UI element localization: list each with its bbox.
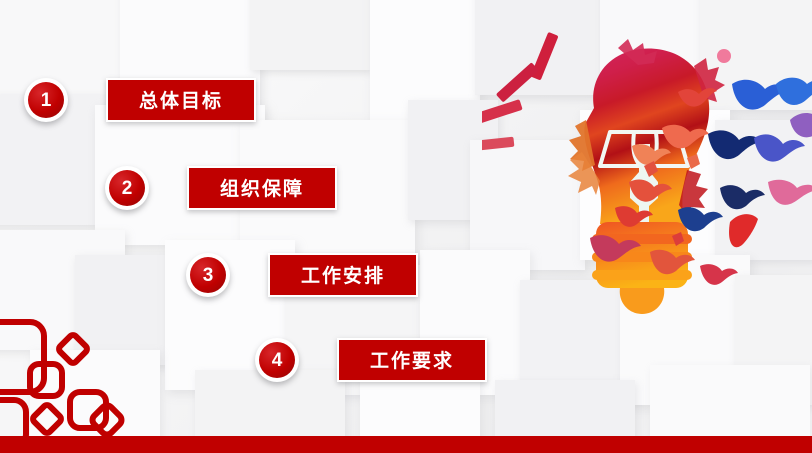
agenda-number-3: 3	[190, 257, 226, 293]
corner-decoration	[0, 316, 150, 436]
agenda-banner-3[interactable]: 工作安排	[268, 253, 418, 297]
agenda-badge-2: 2	[105, 166, 149, 210]
agenda-row-3[interactable]: 3 工作安排	[186, 253, 418, 297]
slide-canvas: 1 总体目标 2 组织保障 3 工作安排 4 工作要求	[0, 0, 812, 453]
agenda-banner-4[interactable]: 工作要求	[337, 338, 487, 382]
agenda-number-1: 1	[28, 82, 64, 118]
agenda-banner-1[interactable]: 总体目标	[106, 78, 256, 122]
agenda-badge-4: 4	[255, 338, 299, 382]
agenda-number-2: 2	[109, 170, 145, 206]
agenda-row-1[interactable]: 1 总体目标	[24, 78, 256, 122]
agenda-row-2[interactable]: 2 组织保障	[105, 166, 337, 210]
agenda-badge-3: 3	[186, 253, 230, 297]
agenda-badge-1: 1	[24, 78, 68, 122]
bottom-accent-bar	[0, 436, 812, 453]
lightbulb-artwork	[482, 0, 812, 440]
agenda-row-4[interactable]: 4 工作要求	[255, 338, 487, 382]
agenda-number-4: 4	[259, 342, 295, 378]
agenda-banner-2[interactable]: 组织保障	[187, 166, 337, 210]
